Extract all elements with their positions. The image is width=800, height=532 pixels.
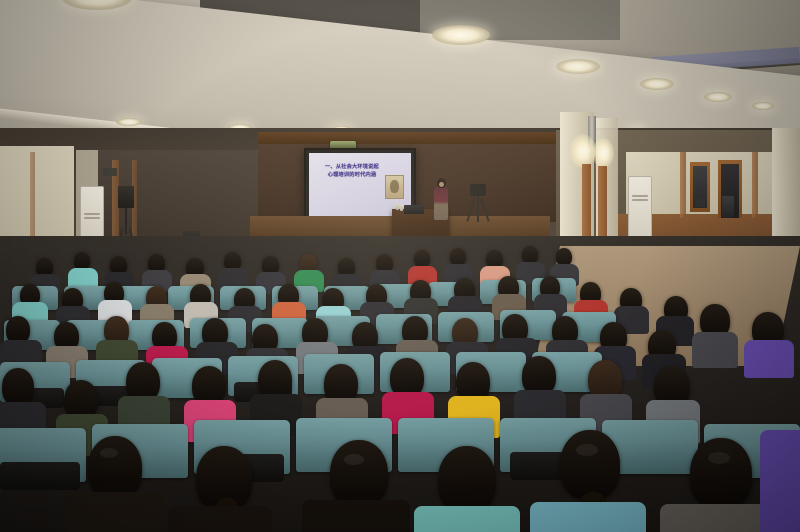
downlight-icon	[116, 118, 142, 126]
water-bottle	[400, 204, 403, 211]
chair-seat[interactable]	[0, 462, 80, 490]
video-camera	[470, 184, 486, 196]
downlight-icon	[640, 78, 674, 90]
loudspeaker-left	[118, 186, 134, 208]
sconce-light	[592, 138, 614, 168]
audience-head-foreground	[560, 430, 620, 500]
audience-torso	[744, 340, 794, 378]
stage-wall-upper	[258, 132, 556, 144]
wall-trim	[752, 152, 758, 218]
audience-torso-foreground	[302, 500, 410, 532]
slide-text: 一、从社会大环境说起 心理培训的时代内涵	[315, 163, 389, 179]
audience-torso	[692, 332, 738, 368]
hair-highlight	[708, 452, 730, 464]
audience-torso-foreground	[168, 506, 272, 532]
downlight-icon	[704, 92, 732, 102]
audience-torso-foreground	[414, 506, 520, 532]
hair-highlight	[100, 448, 118, 458]
laptop	[404, 205, 424, 214]
slide-line-2: 心理培训的时代内涵	[315, 171, 389, 179]
audience-torso-foreground	[530, 502, 646, 532]
equipment-rack	[722, 196, 734, 218]
wall-trim	[680, 152, 686, 218]
audience-head-foreground	[88, 436, 142, 500]
slide-portrait-image	[385, 175, 404, 199]
audience-head-foreground	[690, 438, 752, 510]
audience-torso-foreground	[66, 492, 164, 532]
audience-head-foreground	[438, 446, 496, 514]
downlight-icon	[752, 102, 774, 110]
wall-speaker-box	[103, 168, 117, 176]
water-bottle	[396, 203, 399, 210]
audience-head-foreground	[330, 440, 388, 508]
auditorium-photo: 一、从社会大环境说起 心理培训的时代内涵	[0, 0, 800, 532]
slide-line-1: 一、从社会大环境说起	[315, 163, 389, 171]
downlight-icon	[432, 25, 490, 45]
downlight-icon	[556, 59, 600, 74]
hair-highlight	[576, 444, 598, 456]
speaker-stand	[125, 208, 127, 234]
monitor	[695, 198, 705, 207]
audience-head	[2, 368, 34, 406]
hair-highlight	[344, 454, 364, 465]
audience-torso-foreground	[760, 430, 800, 532]
presenter-face	[439, 182, 444, 187]
presenter	[434, 186, 448, 220]
